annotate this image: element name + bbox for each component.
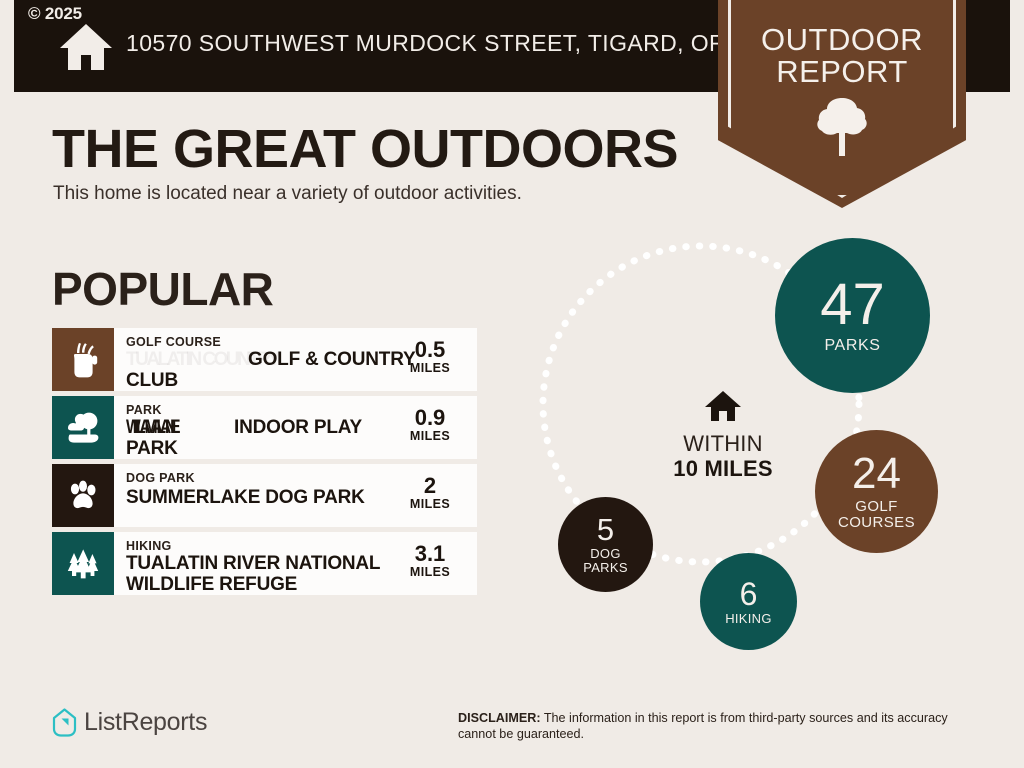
tree-icon bbox=[815, 96, 869, 158]
stat-circle-hiking[interactable]: 6 HIKING bbox=[700, 553, 797, 650]
within-radius-label: WITHIN 10 MILES bbox=[658, 390, 788, 481]
poi-distance: 2 MILES bbox=[393, 474, 467, 511]
table-row[interactable]: HIKING TUALATIN RIVER NATIONAL WILDLIFE … bbox=[52, 532, 477, 595]
home-icon bbox=[704, 390, 742, 423]
stat-value: 6 bbox=[740, 578, 758, 610]
poi-category: HIKING bbox=[126, 539, 172, 553]
poi-distance: 0.9 MILES bbox=[393, 406, 467, 443]
page-title: THE GREAT OUTDOORS bbox=[52, 118, 678, 180]
poi-category: DOG PARK bbox=[126, 471, 195, 485]
poi-distance-unit: MILES bbox=[393, 565, 467, 579]
golf-bag-icon bbox=[66, 341, 100, 379]
poi-distance-value: 0.9 bbox=[393, 406, 467, 429]
poi-distance-unit: MILES bbox=[393, 429, 467, 443]
stats-diagram: 47 PARKS 24 GOLF COURSES 5 DOG PARKS 6 H… bbox=[510, 225, 990, 655]
copyright-label: © 2025 bbox=[28, 4, 82, 24]
badge-title-line1: OUTDOOR bbox=[718, 22, 966, 58]
poi-distance-unit: MILES bbox=[393, 361, 467, 375]
listreports-logo-text: ListReports bbox=[84, 708, 207, 737]
poi-name-tail: PARK bbox=[126, 438, 178, 459]
disclaimer: DISCLAIMER: The information in this repo… bbox=[458, 710, 978, 742]
stat-value: 5 bbox=[597, 514, 614, 545]
stat-value: 47 bbox=[820, 276, 885, 334]
table-row[interactable]: DOG PARK SUMMERLAKE DOG PARK 2 MILES bbox=[52, 464, 477, 527]
poi-distance-value: 2 bbox=[393, 474, 467, 497]
stat-circle-parks[interactable]: 47 PARKS bbox=[775, 238, 930, 393]
listreports-house-pin-icon bbox=[52, 708, 77, 737]
stat-label-line1: GOLF bbox=[855, 499, 897, 515]
home-icon bbox=[58, 22, 114, 72]
poi-distance: 0.5 MILES bbox=[393, 338, 467, 375]
park-tree-bench-icon bbox=[65, 411, 101, 445]
property-address: 10570 SOUTHWEST MURDOCK STREET, TIGARD, … bbox=[126, 30, 799, 57]
poi-icon-tile bbox=[52, 328, 114, 391]
poi-name-tail: CLUB bbox=[126, 370, 178, 391]
poi-icon-tile bbox=[52, 464, 114, 527]
stat-value: 24 bbox=[852, 452, 901, 496]
listreports-logo[interactable]: ListReports bbox=[52, 708, 207, 737]
badge-title-line2: REPORT bbox=[718, 54, 966, 90]
poi-distance-value: 0.5 bbox=[393, 338, 467, 361]
within-line2: 10 MILES bbox=[658, 456, 788, 481]
stat-label: PARKS bbox=[824, 338, 880, 355]
pine-trees-icon bbox=[65, 547, 101, 581]
stat-circle-dog-parks[interactable]: 5 DOG PARKS bbox=[558, 497, 653, 592]
stat-label-line1: DOG bbox=[590, 547, 621, 561]
stat-label-line2: COURSES bbox=[838, 515, 915, 531]
poi-distance: 3.1 MILES bbox=[393, 542, 467, 579]
poi-name-visible: INDOOR PLAY bbox=[234, 417, 362, 438]
poi-name-visible: TUALATIN RIVER NATIONAL bbox=[126, 553, 380, 574]
poi-category: GOLF COURSE bbox=[126, 335, 221, 349]
poi-distance-value: 3.1 bbox=[393, 542, 467, 565]
stat-label-line2: PARKS bbox=[583, 561, 628, 575]
page-subtitle: This home is located near a variety of o… bbox=[53, 183, 522, 205]
popular-poi-list: GOLF COURSE TUALATIN COUNTRY GOLF & COUN… bbox=[52, 328, 477, 600]
stat-label-line1: HIKING bbox=[725, 612, 772, 626]
poi-name-visible: GOLF & COUNTRY bbox=[248, 349, 416, 370]
poi-name-faded: WILLAMALANE bbox=[126, 417, 174, 438]
poi-category: PARK bbox=[126, 403, 162, 417]
paw-print-icon bbox=[66, 479, 100, 513]
poi-distance-unit: MILES bbox=[393, 497, 467, 511]
poi-icon-tile bbox=[52, 396, 114, 459]
outdoor-report-badge: OUTDOOR REPORT bbox=[718, 0, 966, 208]
section-title-popular: POPULAR bbox=[52, 262, 273, 316]
disclaimer-label: DISCLAIMER: bbox=[458, 711, 541, 725]
stat-circle-golf-courses[interactable]: 24 GOLF COURSES bbox=[815, 430, 938, 553]
poi-icon-tile bbox=[52, 532, 114, 595]
within-line1: WITHIN bbox=[658, 431, 788, 456]
table-row[interactable]: GOLF COURSE TUALATIN COUNTRY GOLF & COUN… bbox=[52, 328, 477, 391]
poi-name-tail: WILDLIFE REFUGE bbox=[126, 574, 297, 595]
table-row[interactable]: PARK WILLAMALANE INDOOR PLAY PARK 0.9 MI… bbox=[52, 396, 477, 459]
